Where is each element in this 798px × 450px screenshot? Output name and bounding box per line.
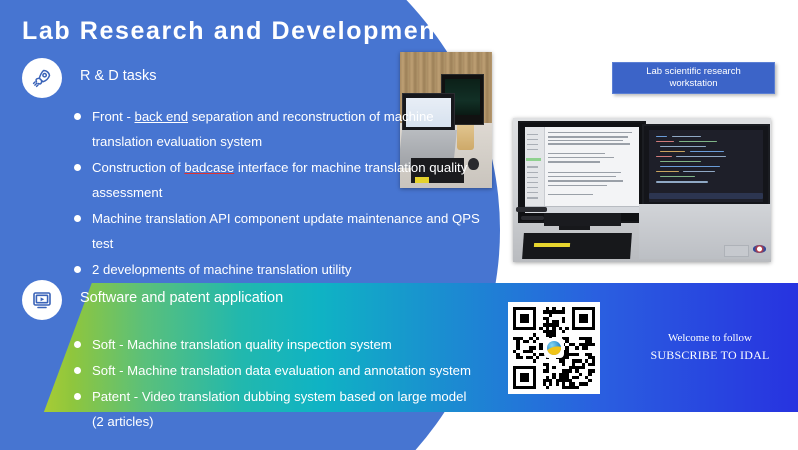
section-software-header: Software and patent application [22, 280, 422, 320]
section-software-patent: Software and patent application Soft - M… [22, 280, 422, 423]
wechat-qr-code[interactable] [508, 302, 600, 394]
slide-canvas: Lab Research and Development R & D tasks… [0, 0, 798, 450]
section-rd-tasks: R & D tasks Front - back end separation … [22, 58, 442, 277]
bullet-dot [74, 215, 81, 222]
bullet-dot [74, 367, 81, 374]
bullet-text: Construction of badcase interface for ma… [92, 160, 467, 200]
bullet-dot [74, 341, 81, 348]
section-rd-header: R & D tasks [22, 58, 442, 98]
section-rd-title: R & D tasks [80, 68, 157, 84]
callout-line-1: Lab scientific research [646, 66, 741, 78]
list-item: Patent - Video translation dubbing syste… [74, 384, 474, 434]
rd-bullet-list: Front - back end separation and reconstr… [74, 104, 494, 282]
follow-line-1: Welcome to follow [640, 330, 780, 347]
bullet-text: Front - back end separation and reconstr… [92, 109, 434, 149]
bullet-text: Soft - Machine translation data evaluati… [92, 363, 471, 378]
bullet-dot [74, 266, 81, 273]
qr-center-logo [544, 338, 564, 358]
photo2-dock [544, 213, 621, 226]
bullet-text: Machine translation API component update… [92, 211, 480, 251]
photo2-laptop-base [639, 204, 771, 259]
list-item: 2 developments of machine translation ut… [74, 257, 494, 282]
list-item: Machine translation API component update… [74, 206, 494, 256]
list-item: Construction of badcase interface for ma… [74, 155, 494, 205]
callout-label-workstation: Lab scientific research workstation [612, 62, 775, 94]
bullet-text: Patent - Video translation dubbing syste… [92, 389, 466, 429]
bullet-text: 2 developments of machine translation ut… [92, 262, 352, 277]
page-title: Lab Research and Development [22, 17, 446, 46]
list-item: Soft - Machine translation data evaluati… [74, 358, 474, 383]
photo2-sticker [753, 245, 766, 253]
bullet-dot [74, 393, 81, 400]
photo2-touchpad [724, 245, 750, 257]
list-item: Soft - Machine translation quality inspe… [74, 332, 474, 357]
photo2-screen-sidebar [525, 127, 545, 213]
bullet-dot [74, 164, 81, 171]
photo2-laptop [642, 124, 770, 212]
section-software-title: Software and patent application [80, 290, 283, 306]
workstation-photo-monitor-laptop [513, 118, 771, 262]
follow-line-2: SUBSCRIBE TO IDAL [640, 347, 780, 364]
list-item: Front - back end separation and reconstr… [74, 104, 494, 154]
photo2-monitor-screen [525, 127, 639, 213]
software-bullet-list: Soft - Machine translation quality inspe… [74, 332, 474, 434]
callout-line-2: workstation [646, 78, 741, 90]
photo2-laptop-screen [649, 130, 763, 202]
follow-text-block: Welcome to follow SUBSCRIBE TO IDAL [640, 330, 780, 364]
bullet-text: Soft - Machine translation quality inspe… [92, 337, 392, 352]
rocket-icon [22, 58, 62, 98]
photo2-keyboard-sticker [533, 243, 569, 247]
video-screen-icon [22, 280, 62, 320]
bullet-dot [74, 113, 81, 120]
globe-icon [547, 341, 561, 355]
